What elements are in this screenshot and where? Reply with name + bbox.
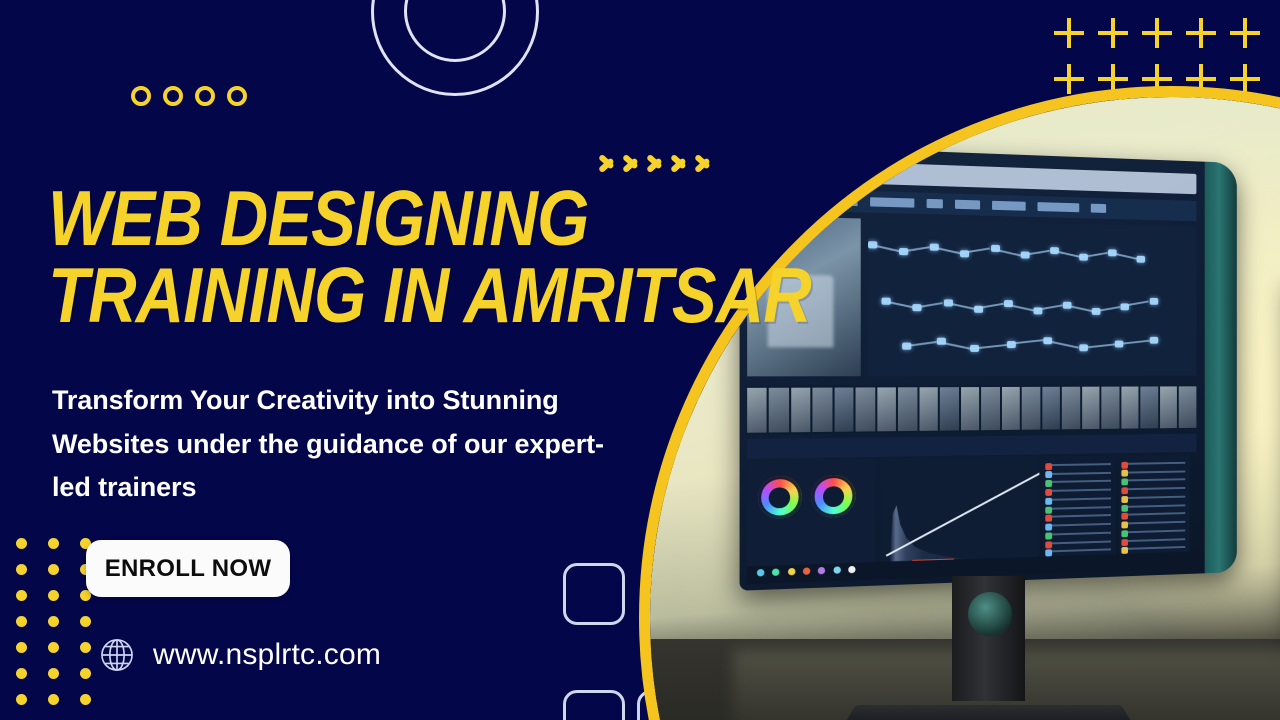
monitor-stand-base — [839, 705, 1137, 720]
editor-menubar — [750, 187, 1197, 221]
globe-icon — [98, 636, 136, 674]
decor-dot — [80, 616, 91, 627]
decor-plus-icon — [1137, 14, 1181, 60]
monitor-bezel — [1205, 162, 1237, 574]
decor-rounded-square — [563, 563, 625, 625]
decor-dot — [48, 564, 59, 575]
decor-chevron-icon — [600, 148, 615, 179]
decor-ring — [195, 86, 215, 106]
decor-dot — [48, 616, 59, 627]
editor-filmstrip — [747, 384, 1196, 434]
decor-plus-icon — [1049, 14, 1093, 60]
editor-node-graph — [868, 219, 1196, 376]
decor-dot — [16, 642, 27, 653]
decor-ring — [131, 86, 151, 106]
subtitle-text: Transform Your Creativity into Stunning … — [52, 379, 612, 510]
decor-dot — [16, 668, 27, 679]
website-url-text[interactable]: www.nsplrtc.com — [153, 638, 381, 672]
decor-dot — [48, 668, 59, 679]
headline-line-1: WEB DESIGNING — [48, 180, 811, 257]
decor-rounded-square — [563, 690, 625, 720]
decor-plus-icon — [1093, 14, 1137, 60]
decor-dot — [16, 564, 27, 575]
decor-dot — [48, 694, 59, 705]
decor-rings-row — [131, 86, 247, 106]
decor-dot — [80, 694, 91, 705]
editor-color-wheels — [747, 460, 875, 574]
decor-dot — [16, 590, 27, 601]
decor-ring — [227, 86, 247, 106]
decor-dot — [48, 590, 59, 601]
decor-dot — [16, 616, 27, 627]
color-wheel — [758, 476, 802, 520]
editor-list-panel — [1044, 456, 1116, 563]
monitor-cable-ring — [968, 592, 1012, 636]
page-title: WEB DESIGNING TRAINING IN AMRITSAR — [48, 180, 811, 334]
decor-plus-icon — [1181, 14, 1225, 60]
color-wheel — [812, 475, 855, 518]
headline-line-2: TRAINING IN AMRITSAR — [48, 257, 811, 334]
primary-monitor — [740, 145, 1237, 592]
editor-list-panel — [1120, 455, 1190, 561]
website-row[interactable]: www.nsplrtc.com — [98, 636, 381, 674]
decor-dot — [16, 694, 27, 705]
decor-dot — [48, 538, 59, 549]
decor-dot — [48, 642, 59, 653]
enroll-now-button[interactable]: ENROLL NOW — [86, 540, 290, 597]
decor-dot — [80, 642, 91, 653]
decor-plus-icon — [1225, 14, 1269, 60]
decor-chevron-icon — [624, 148, 639, 179]
curve-line — [886, 466, 1040, 557]
decor-dot — [16, 538, 27, 549]
promo-banner: WEB DESIGNING TRAINING IN AMRITSAR Trans… — [0, 0, 1280, 720]
decor-dot — [80, 668, 91, 679]
decor-ring — [163, 86, 183, 106]
histogram — [890, 499, 964, 562]
editor-curves-panel — [880, 457, 1039, 569]
